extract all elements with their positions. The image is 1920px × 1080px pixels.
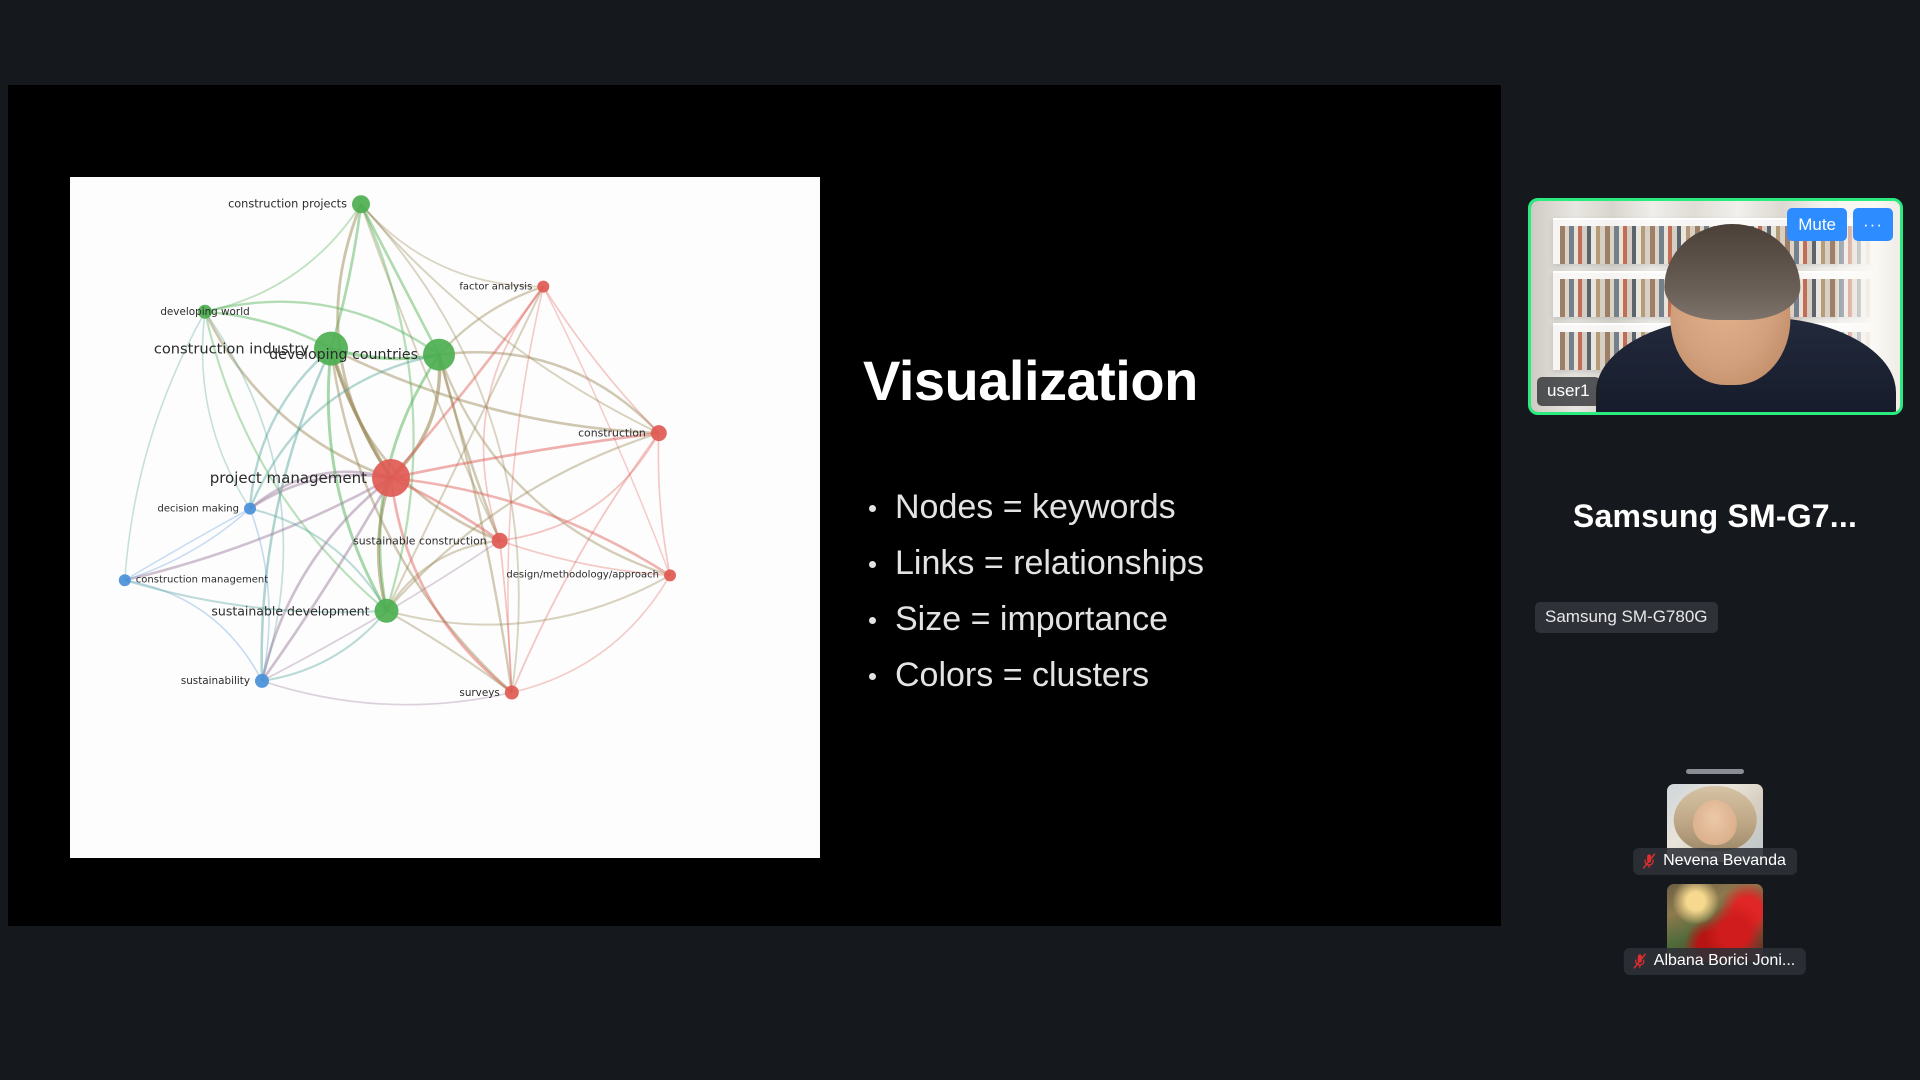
mic-muted-icon [1633,953,1647,969]
participant-name-badge: Albana Borici Joni... [1624,948,1806,975]
graph-edge [543,287,659,434]
participant-thumbnail[interactable]: Albana Borici Joni... [1667,884,1763,962]
graph-edge [125,580,262,681]
graph-node[interactable] [664,569,676,581]
graph-edge [205,312,391,478]
graph-edge [658,433,670,575]
participant-name: Albana Borici Joni... [1654,952,1795,970]
graph-edge [250,509,269,681]
graph-edge [125,509,250,581]
device-name-chip: Samsung SM-G780G [1535,602,1718,633]
graph-node[interactable] [352,195,370,213]
participant-thumbnail[interactable]: Nevena Bevanda [1667,784,1763,862]
graph-node[interactable] [375,599,399,623]
slide-title: Visualization [863,350,1463,412]
rail-drag-handle[interactable] [1686,769,1744,774]
mute-button[interactable]: Mute [1787,208,1847,241]
participants-rail: Mute ··· user1 Samsung SM-G7... Samsung … [1510,0,1920,1080]
graph-edge [203,312,250,509]
slide-bullet-item: Nodes = keywords [863,490,1463,524]
graph-node[interactable] [651,425,667,441]
participant-name-badge: Nevena Bevanda [1633,848,1797,875]
graph-edge [512,575,670,692]
graph-node[interactable] [255,674,269,688]
graph-node[interactable] [198,305,212,319]
slide-bullet-list: Nodes = keywords Links = relationships S… [863,490,1463,692]
graph-edge [250,509,387,611]
graph-node[interactable] [505,686,519,700]
graph-edge [387,433,659,611]
more-options-button[interactable]: ··· [1853,208,1893,241]
slide-text-column: Visualization Nodes = keywords Links = r… [863,350,1463,714]
graph-node[interactable] [314,332,348,366]
graph-node[interactable] [372,459,410,497]
graph-node[interactable] [119,574,131,586]
graph-edge [331,349,391,478]
video-tile-controls: Mute ··· [1787,208,1893,241]
keyword-network-graph: construction projectsfactor analysisdeve… [70,177,820,858]
graph-node[interactable] [244,503,256,515]
shared-screen-stage[interactable]: construction projectsfactor analysisdeve… [8,85,1501,926]
network-graph-svg [70,177,820,858]
graph-edge [543,287,670,576]
mic-muted-icon [1642,853,1656,869]
graph-node[interactable] [537,281,549,293]
slide-bullet-item: Links = relationships [863,546,1463,580]
zoom-meeting-window: construction projectsfactor analysisdeve… [0,0,1920,1080]
graph-edge [391,355,440,478]
slide-bullet-item: Colors = clusters [863,658,1463,692]
graph-edge [125,580,387,612]
participant-thumbnail-strip: Nevena Bevanda Albana Borici Joni... [1510,784,1920,984]
active-speaker-name-label: Samsung SM-G7... [1510,498,1920,535]
graph-edge [262,681,512,705]
graph-edge [361,204,414,611]
video-participant-name: user1 [1537,377,1600,406]
active-speaker-video-tile[interactable]: Mute ··· user1 [1528,198,1903,415]
graph-node[interactable] [423,339,455,371]
participant-name: Nevena Bevanda [1663,852,1786,870]
graph-edge [205,312,331,349]
graph-edge [391,433,659,478]
graph-node[interactable] [492,533,508,549]
presentation-slide: construction projectsfactor analysisdeve… [8,85,1501,926]
slide-bullet-item: Size = importance [863,602,1463,636]
graph-edge [361,204,659,433]
graph-edge [500,541,512,693]
